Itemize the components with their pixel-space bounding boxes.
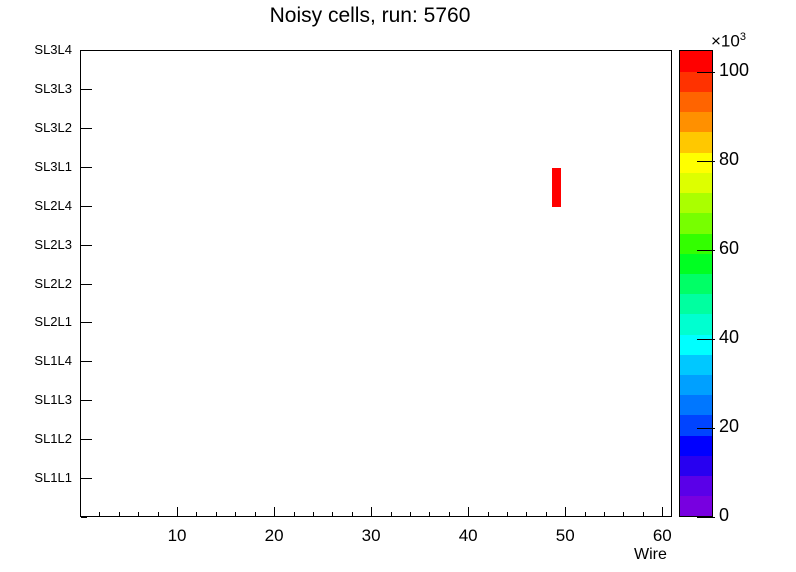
colorbar-gradient [680, 51, 712, 516]
chart-canvas: Noisy cells, run: 5760 102030405060 Wire… [0, 0, 796, 572]
y-axis-major-tick [81, 400, 92, 401]
colorbar [679, 50, 713, 517]
x-axis-minor-tick [119, 512, 120, 517]
colorbar-tick-label: 0 [719, 505, 729, 526]
colorbar-band [680, 455, 712, 476]
colorbar-tick-label: 20 [719, 416, 739, 437]
page-title: Noisy cells, run: 5760 [0, 4, 740, 28]
x-axis-minor-tick [526, 512, 527, 517]
x-axis-tick-label: 50 [535, 526, 595, 546]
y-axis-major-tick [81, 245, 92, 246]
colorbar-exponent-label: ×103 [711, 31, 746, 52]
colorbar-band [680, 132, 712, 153]
colorbar-band [680, 112, 712, 133]
x-axis-minor-tick [138, 512, 139, 517]
y-axis-tick-label: SL3L4 [10, 42, 72, 57]
y-axis-major-tick [81, 478, 92, 479]
colorbar-band [680, 51, 712, 72]
colorbar-tick-label: 40 [719, 327, 739, 348]
colorbar-band [680, 213, 712, 234]
colorbar-tick [697, 339, 715, 340]
x-axis-tick-label: 30 [341, 526, 401, 546]
y-axis-major-tick [81, 50, 92, 51]
colorbar-tick [697, 517, 715, 518]
colorbar-band [680, 496, 712, 517]
x-axis-minor-tick [294, 512, 295, 517]
colorbar-band [680, 253, 712, 274]
heatmap-cell [552, 168, 562, 207]
colorbar-exponent-mantissa: ×10 [711, 32, 740, 51]
y-axis-tick-label: SL3L1 [10, 159, 72, 174]
x-axis-minor-tick [313, 512, 314, 517]
y-axis-tick-label: SL1L3 [10, 392, 72, 407]
colorbar-band [680, 91, 712, 112]
x-axis-minor-tick [235, 512, 236, 517]
y-axis-tick-label: SL1L4 [10, 353, 72, 368]
x-axis-minor-tick [643, 512, 644, 517]
colorbar-tick-label: 80 [719, 149, 739, 170]
x-axis-minor-tick [99, 512, 100, 517]
x-axis-minor-tick [216, 512, 217, 517]
y-axis-major-tick [81, 128, 92, 129]
y-axis-tick-label: SL2L4 [10, 198, 72, 213]
colorbar-band [680, 374, 712, 395]
colorbar-band [680, 415, 712, 436]
y-axis-tick-label: SL2L2 [10, 276, 72, 291]
y-axis-major-tick [81, 322, 92, 323]
x-axis-minor-tick [410, 512, 411, 517]
colorbar-band [680, 395, 712, 416]
y-axis-major-tick [81, 167, 92, 168]
x-axis-minor-tick [196, 512, 197, 517]
x-axis-minor-tick [546, 512, 547, 517]
y-axis-tick-label: SL3L2 [10, 120, 72, 135]
y-axis-major-tick [81, 439, 92, 440]
colorbar-band [680, 172, 712, 193]
x-axis-minor-tick [585, 512, 586, 517]
x-axis-major-tick [177, 507, 178, 517]
y-axis-tick-label: SL2L3 [10, 237, 72, 252]
colorbar-band [680, 435, 712, 456]
colorbar-band [680, 71, 712, 92]
x-axis-minor-tick [255, 512, 256, 517]
colorbar-tick [697, 250, 715, 251]
x-axis-minor-tick [449, 512, 450, 517]
x-axis-minor-tick [352, 512, 353, 517]
y-axis-major-tick [81, 361, 92, 362]
colorbar-band [680, 334, 712, 355]
colorbar-band [680, 314, 712, 335]
x-axis-minor-tick [604, 512, 605, 517]
y-axis-tick-label: SL1L1 [10, 470, 72, 485]
x-axis-minor-tick [332, 512, 333, 517]
x-axis-major-tick [565, 507, 566, 517]
plot-area [80, 50, 672, 517]
x-axis-tick-label: 20 [244, 526, 304, 546]
colorbar-tick [697, 161, 715, 162]
y-axis-major-tick [81, 89, 92, 90]
colorbar-tick [697, 428, 715, 429]
colorbar-band [680, 476, 712, 497]
colorbar-tick-label: 100 [719, 60, 749, 81]
x-axis-tick-label: 10 [147, 526, 207, 546]
x-axis-major-tick [371, 507, 372, 517]
x-axis-major-tick [662, 507, 663, 517]
x-axis-minor-tick [623, 512, 624, 517]
x-axis-title: Wire [634, 546, 667, 564]
x-axis-minor-tick [507, 512, 508, 517]
y-axis-tick-label: SL2L1 [10, 314, 72, 329]
colorbar-exponent-power: 3 [740, 31, 746, 43]
x-axis-tick-label: 40 [438, 526, 498, 546]
x-axis-minor-tick [158, 512, 159, 517]
y-axis-major-tick [81, 284, 92, 285]
y-axis-tick-label: SL1L2 [10, 431, 72, 446]
colorbar-band [680, 273, 712, 294]
x-axis-minor-tick [429, 512, 430, 517]
x-axis-tick-label: 60 [632, 526, 692, 546]
colorbar-band [680, 193, 712, 214]
y-axis-major-tick [81, 206, 92, 207]
y-axis-minor-tick [81, 517, 87, 518]
x-axis-major-tick [274, 507, 275, 517]
y-axis-tick-label: SL3L3 [10, 81, 72, 96]
colorbar-band [680, 152, 712, 173]
x-axis-major-tick [468, 507, 469, 517]
x-axis-minor-tick [488, 512, 489, 517]
colorbar-tick-label: 60 [719, 238, 739, 259]
heatmap-cells-layer [81, 51, 671, 516]
x-axis-minor-tick [391, 512, 392, 517]
colorbar-band [680, 294, 712, 315]
colorbar-band [680, 354, 712, 375]
colorbar-tick [697, 72, 715, 73]
